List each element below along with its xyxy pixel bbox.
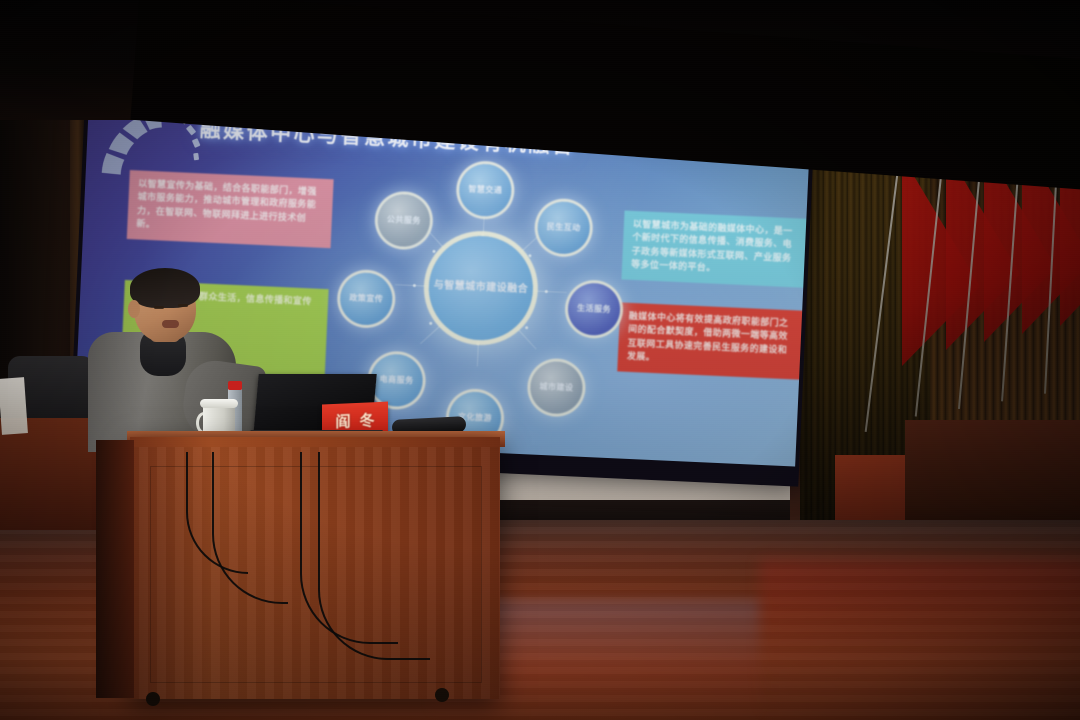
podium-wheel xyxy=(435,688,449,702)
speaker-hair xyxy=(130,268,200,308)
spoke xyxy=(481,233,542,289)
diagram-node: 城市建设 xyxy=(529,360,583,414)
diagram-node: 生活服务 xyxy=(567,282,621,336)
slide-textbox-red: 融媒体中心将有效提高政府职能部门之间的配合默契度，借助两微一端等高效互联网工具协… xyxy=(617,302,806,380)
paper-stack xyxy=(0,377,28,435)
spoke-dot xyxy=(545,290,548,293)
slide-textbox-pink: 以智慧宣传为基础，结合各职能部门，增强城市服务能力，推动城市管理和政府服务能力，… xyxy=(127,170,334,248)
spoke-dot xyxy=(528,254,531,257)
spoke xyxy=(425,228,481,289)
podium-side xyxy=(96,440,134,698)
scene-root: 融媒体中心与智慧城市建设有机融合 以智慧宣传为基础，结合各职能部门，增强城市服务… xyxy=(0,0,1080,720)
spoke-dot xyxy=(481,234,484,237)
speaker-eye xyxy=(178,304,188,307)
diagram-node: 智慧交通 xyxy=(458,163,512,217)
spoke xyxy=(480,288,536,349)
spoke xyxy=(477,289,482,367)
spoke-dot xyxy=(432,250,435,253)
spoke-dot xyxy=(525,326,528,329)
speaker-eye xyxy=(154,306,164,309)
diagram-node: 民生互动 xyxy=(537,201,591,255)
diagram-center-node: 与智慧城市建设融合 xyxy=(427,234,536,343)
podium-wheel xyxy=(146,692,160,706)
name-card-char-2: 冬 xyxy=(360,409,375,431)
spoke-dot xyxy=(476,342,479,345)
diagram-node: 公共服务 xyxy=(377,193,431,247)
spoke xyxy=(420,288,481,344)
diagram-node: 电商服务 xyxy=(369,353,423,407)
slide-textbox-cyan: 以智慧城市为基础的融媒体中心，是一个新时代下的信息传播、消费服务、电子政务等新媒… xyxy=(621,211,810,289)
floor-reflection-flags xyxy=(760,560,1080,720)
water-bottle-cap xyxy=(228,381,242,390)
spoke xyxy=(481,288,567,293)
name-card-char-1: 阎 xyxy=(335,410,350,432)
speaker-mouth xyxy=(162,320,179,328)
spoke-dot xyxy=(429,322,432,325)
speaker-ear xyxy=(128,300,140,318)
cable xyxy=(318,452,430,660)
spoke xyxy=(395,284,481,289)
spoke xyxy=(480,211,485,289)
thermos-cup-lid xyxy=(200,399,238,408)
diagram-node: 政策宣传 xyxy=(339,272,393,326)
spoke-dot xyxy=(413,284,416,287)
